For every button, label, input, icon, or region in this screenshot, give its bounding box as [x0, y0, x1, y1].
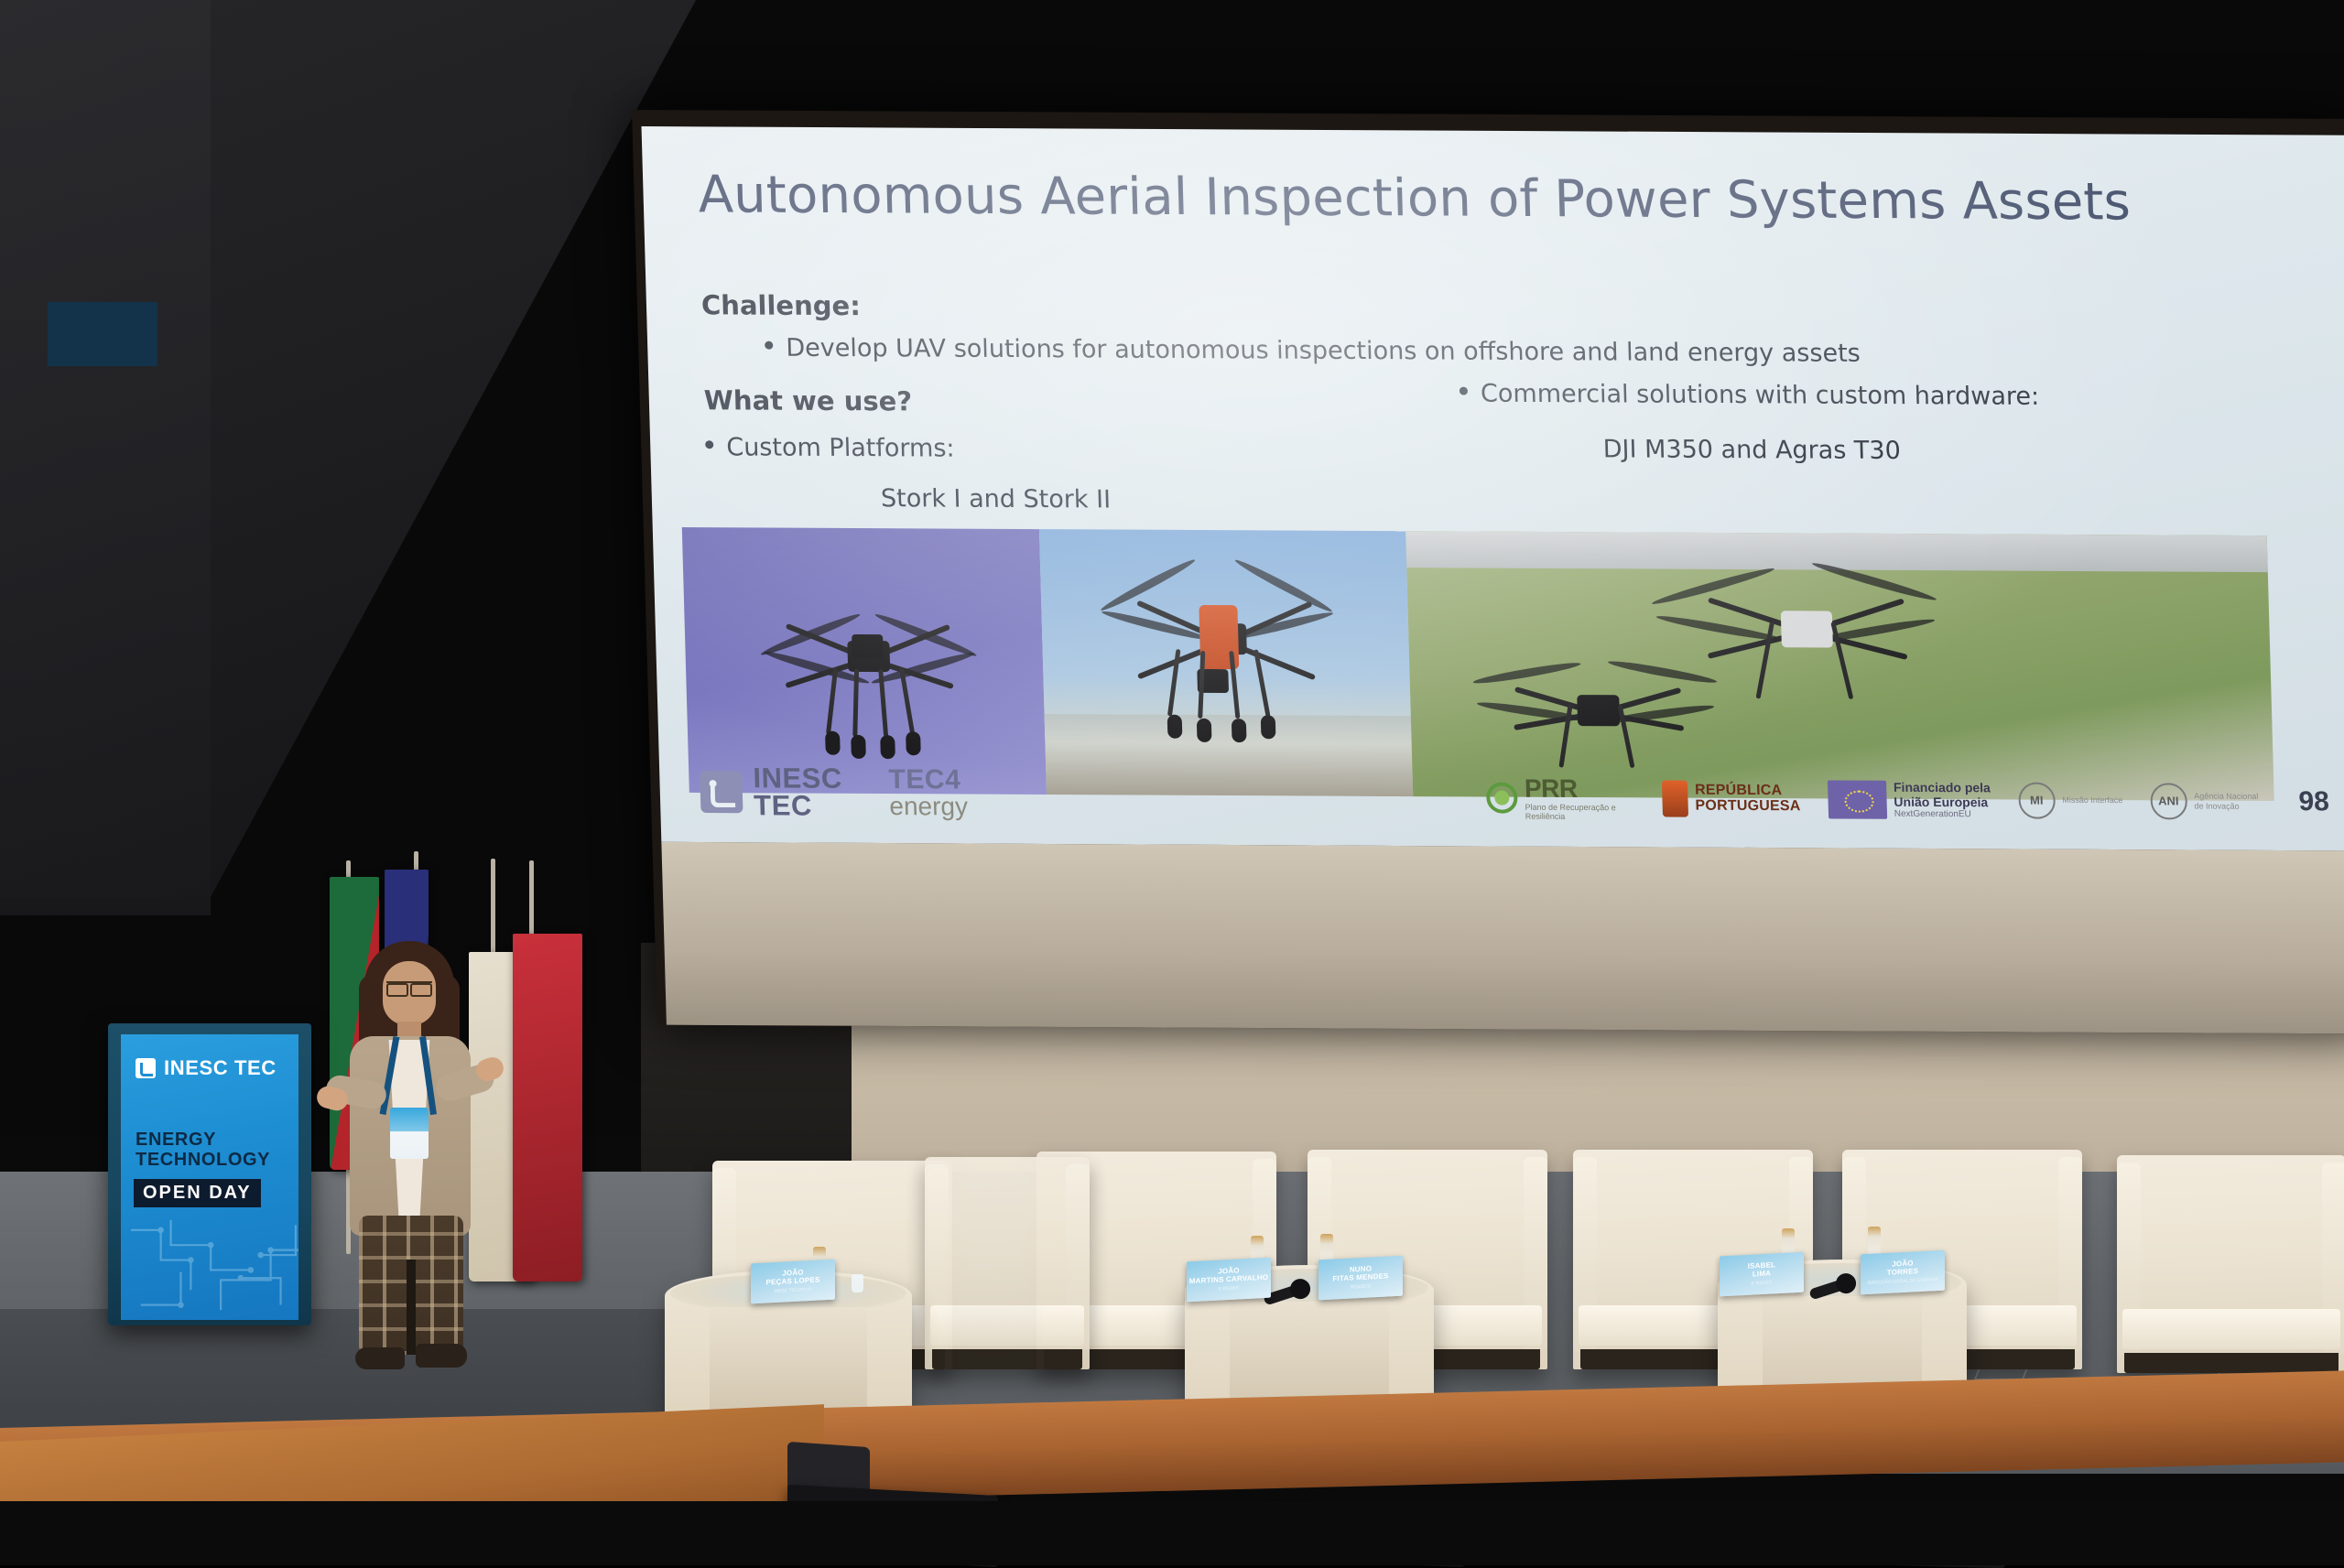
tec4-energy-logo: TEC4 energy — [888, 766, 968, 819]
name-card-line-2: FITAS MENDES — [1332, 1271, 1388, 1282]
flag-city — [513, 934, 582, 1281]
name-card-line-2: TORRES — [1887, 1267, 1918, 1277]
inesc-mark-icon — [700, 771, 743, 813]
inesc-mark-icon — [136, 1058, 156, 1078]
leg-gap — [407, 1260, 416, 1355]
inesc-line-1: INESC — [753, 764, 842, 792]
eu-line-1: Financiado pela — [1894, 780, 1991, 795]
name-card-line-2: MARTINS CARVALHO — [1189, 1273, 1268, 1286]
drone-illustration — [1709, 560, 1904, 698]
custom-platforms-row: Custom Platforms: — [705, 433, 955, 462]
name-card-org: REN/EDS — [1351, 1283, 1371, 1290]
name-card: JOÃO MARTINS CARVALHO E-REDES — [1187, 1258, 1271, 1303]
what-we-use-label: What we use? — [703, 384, 912, 416]
circuit-pattern-icon — [121, 1210, 298, 1320]
eu-line-2: União Europeia — [1894, 795, 1991, 810]
name-card-org: INESC TEC/FEUP — [774, 1287, 811, 1294]
prr-logo: PRR Plano de Recuperação e Resiliência — [1485, 774, 1635, 822]
lectern-event-title: ENERGY TECHNOLOGY — [136, 1130, 270, 1171]
bullet-dot-icon — [765, 341, 773, 350]
name-card-org: E-REDES — [1219, 1285, 1239, 1292]
lectern-base — [48, 302, 157, 366]
name-card: JOÃO PEÇAS LOPES INESC TEC/FEUP — [751, 1260, 835, 1304]
mission-logo: MI Missão Interface — [2018, 782, 2123, 819]
bullet-dot-icon — [705, 440, 713, 449]
stork-caption: Stork I and Stork II — [881, 484, 1112, 514]
presentation-slide: Autonomous Aerial Inspection of Power Sy… — [642, 126, 2344, 850]
commercial-solutions-row: Commercial solutions with custom hardwar… — [1460, 380, 2040, 411]
drone-illustration — [1141, 561, 1310, 718]
commercial-solutions-text: Commercial solutions with custom hardwar… — [1481, 380, 2040, 411]
ani-circle-icon: ANI — [2150, 783, 2187, 819]
challenge-bullet-row: Develop UAV solutions for autonomous ins… — [765, 334, 1861, 368]
panel-chair[interactable] — [925, 1157, 1090, 1369]
republica-portuguesa-logo: REPÚBLICA PORTUGUESA — [1662, 780, 1801, 817]
tec4-line-1: TEC4 — [888, 766, 968, 794]
republica-line-1: REPÚBLICA — [1695, 783, 1800, 798]
eu-funding-logo: Financiado pela União Europeia NextGener… — [1828, 779, 1991, 820]
prr-label: PRR — [1525, 774, 1635, 805]
inesc-tec-logo: INESC TEC — [700, 764, 843, 819]
inesc-line-2: TEC — [754, 792, 843, 819]
custom-platforms-text: Custom Platforms: — [726, 433, 955, 462]
slide-footer: INESC TEC TEC4 energy PRR Plano de Recup… — [658, 732, 2344, 851]
name-card-org: E-REDES — [1752, 1280, 1772, 1286]
ani-subtitle: Agência Nacional de Inovação — [2194, 791, 2261, 811]
ani-logo: ANI Agência Nacional de Inovação — [2150, 783, 2261, 820]
name-card: JOÃO TORRES DIRECÇÃO-GERAL DE ENERGIA — [1861, 1250, 1945, 1295]
bullet-dot-icon — [1460, 387, 1468, 395]
lectern[interactable]: INESC TEC ENERGY TECHNOLOGY OPEN DAY — [108, 1023, 311, 1325]
name-card-org: DIRECÇÃO-GERAL DE ENERGIA — [1867, 1277, 1937, 1286]
drinking-glass — [852, 1274, 863, 1292]
glasses-icon — [386, 981, 432, 991]
conference-stage-scene: Autonomous Aerial Inspection of Power Sy… — [0, 0, 2344, 1563]
lectern-open-day-badge: OPEN DAY — [134, 1179, 261, 1207]
mission-circle-icon: MI — [2018, 782, 2056, 818]
republica-shield-icon — [1662, 780, 1688, 816]
panel-chair[interactable] — [2117, 1155, 2344, 1373]
conference-badge — [390, 1108, 429, 1159]
name-card-line-2: LIMA — [1753, 1269, 1771, 1278]
name-card-line-2: PEÇAS LOPES — [765, 1275, 819, 1286]
screen-lower-blank-area — [661, 842, 2344, 1034]
lectern-title-line-2: TECHNOLOGY — [136, 1150, 270, 1170]
eu-flag-icon — [1828, 780, 1887, 818]
republica-line-2: PORTUGUESA — [1695, 798, 1800, 814]
tec4-line-2: energy — [889, 794, 968, 819]
orchestra-pit-shadow — [0, 1501, 2344, 1565]
lectern-title-line-1: ENERGY — [136, 1130, 270, 1150]
slide-page-number: 98 — [2298, 786, 2329, 817]
lectern-inesc-logo: INESC TEC — [136, 1056, 277, 1080]
challenge-bullet-text: Develop UAV solutions for autonomous ins… — [786, 334, 1861, 368]
dji-agras-caption: DJI M350 and Agras T30 — [1602, 435, 1901, 465]
drone-illustration — [793, 583, 944, 730]
shoe — [355, 1347, 405, 1369]
name-card: NUNO FITAS MENDES REN/EDS — [1318, 1256, 1403, 1301]
eu-subtitle: NextGenerationEU — [1894, 809, 1991, 820]
projection-screen: Autonomous Aerial Inspection of Power Sy… — [632, 110, 2344, 1033]
challenge-label: Challenge: — [701, 289, 862, 321]
funders-logo-row: PRR Plano de Recuperação e Resiliência R… — [1485, 774, 2329, 826]
name-card: ISABEL LIMA E-REDES — [1720, 1252, 1804, 1297]
slide-title: Autonomous Aerial Inspection of Power Sy… — [698, 165, 2132, 232]
lectern-logo-text: INESC TEC — [164, 1056, 277, 1080]
prr-ring-icon — [1486, 782, 1518, 813]
shoe — [416, 1344, 467, 1368]
prr-subtitle: Plano de Recuperação e Resiliência — [1525, 804, 1635, 821]
presenter-person — [322, 941, 496, 1371]
lectern-branding-panel: INESC TEC ENERGY TECHNOLOGY OPEN DAY — [121, 1034, 298, 1320]
inesc-tec-wordmark: INESC TEC — [753, 764, 843, 818]
mission-subtitle: Missão Interface — [2062, 795, 2122, 806]
